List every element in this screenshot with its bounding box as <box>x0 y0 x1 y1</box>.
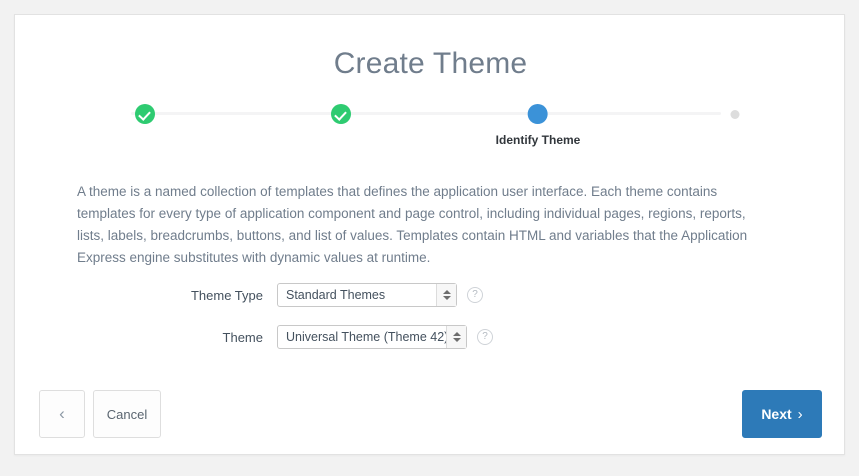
back-button[interactable]: ‹ <box>39 390 85 438</box>
chevron-right-icon: › <box>798 406 803 423</box>
theme-type-select[interactable]: Standard Themes <box>277 283 457 307</box>
chevron-down-icon <box>443 296 451 300</box>
cancel-button[interactable]: Cancel <box>93 390 161 438</box>
wizard-footer: ‹ Cancel Next › <box>15 378 846 454</box>
chevron-up-icon <box>443 290 451 294</box>
form-row-theme: Theme Universal Theme (Theme 42) ? <box>15 322 846 352</box>
chevron-up-icon <box>453 332 461 336</box>
form-row-theme-type: Theme Type Standard Themes ? <box>15 280 846 310</box>
theme-type-selected-value: Standard Themes <box>278 288 436 302</box>
page-title: Create Theme <box>15 47 846 81</box>
chevron-updown-icon[interactable] <box>446 326 466 348</box>
theme-form: Theme Type Standard Themes ? Theme Unive… <box>15 280 846 364</box>
next-button[interactable]: Next › <box>742 390 822 438</box>
wizard-step-1[interactable] <box>135 100 155 133</box>
theme-type-label: Theme Type <box>15 288 277 303</box>
chevron-updown-icon[interactable] <box>436 284 456 306</box>
check-circle-icon <box>331 104 351 124</box>
chevron-down-icon <box>453 338 461 342</box>
wizard-step-3[interactable]: Identify Theme <box>496 100 581 147</box>
theme-label: Theme <box>15 330 277 345</box>
help-icon[interactable]: ? <box>467 287 483 303</box>
help-icon[interactable]: ? <box>477 329 493 345</box>
future-step-dot-icon <box>731 110 740 119</box>
wizard-step-3-label: Identify Theme <box>496 133 581 147</box>
wizard-description-text: A theme is a named collection of templat… <box>77 181 767 269</box>
create-theme-wizard-card: Create Theme Identify Theme A theme is a… <box>14 14 845 455</box>
theme-select[interactable]: Universal Theme (Theme 42) <box>277 325 467 349</box>
next-button-label: Next <box>761 406 791 422</box>
theme-selected-value: Universal Theme (Theme 42) <box>278 330 446 344</box>
wizard-step-4[interactable] <box>731 100 740 128</box>
check-circle-icon <box>135 104 155 124</box>
current-step-dot-icon <box>528 104 548 124</box>
progress-track <box>131 112 721 115</box>
wizard-step-2[interactable] <box>331 100 351 133</box>
wizard-progress-steps: Identify Theme <box>15 100 846 160</box>
